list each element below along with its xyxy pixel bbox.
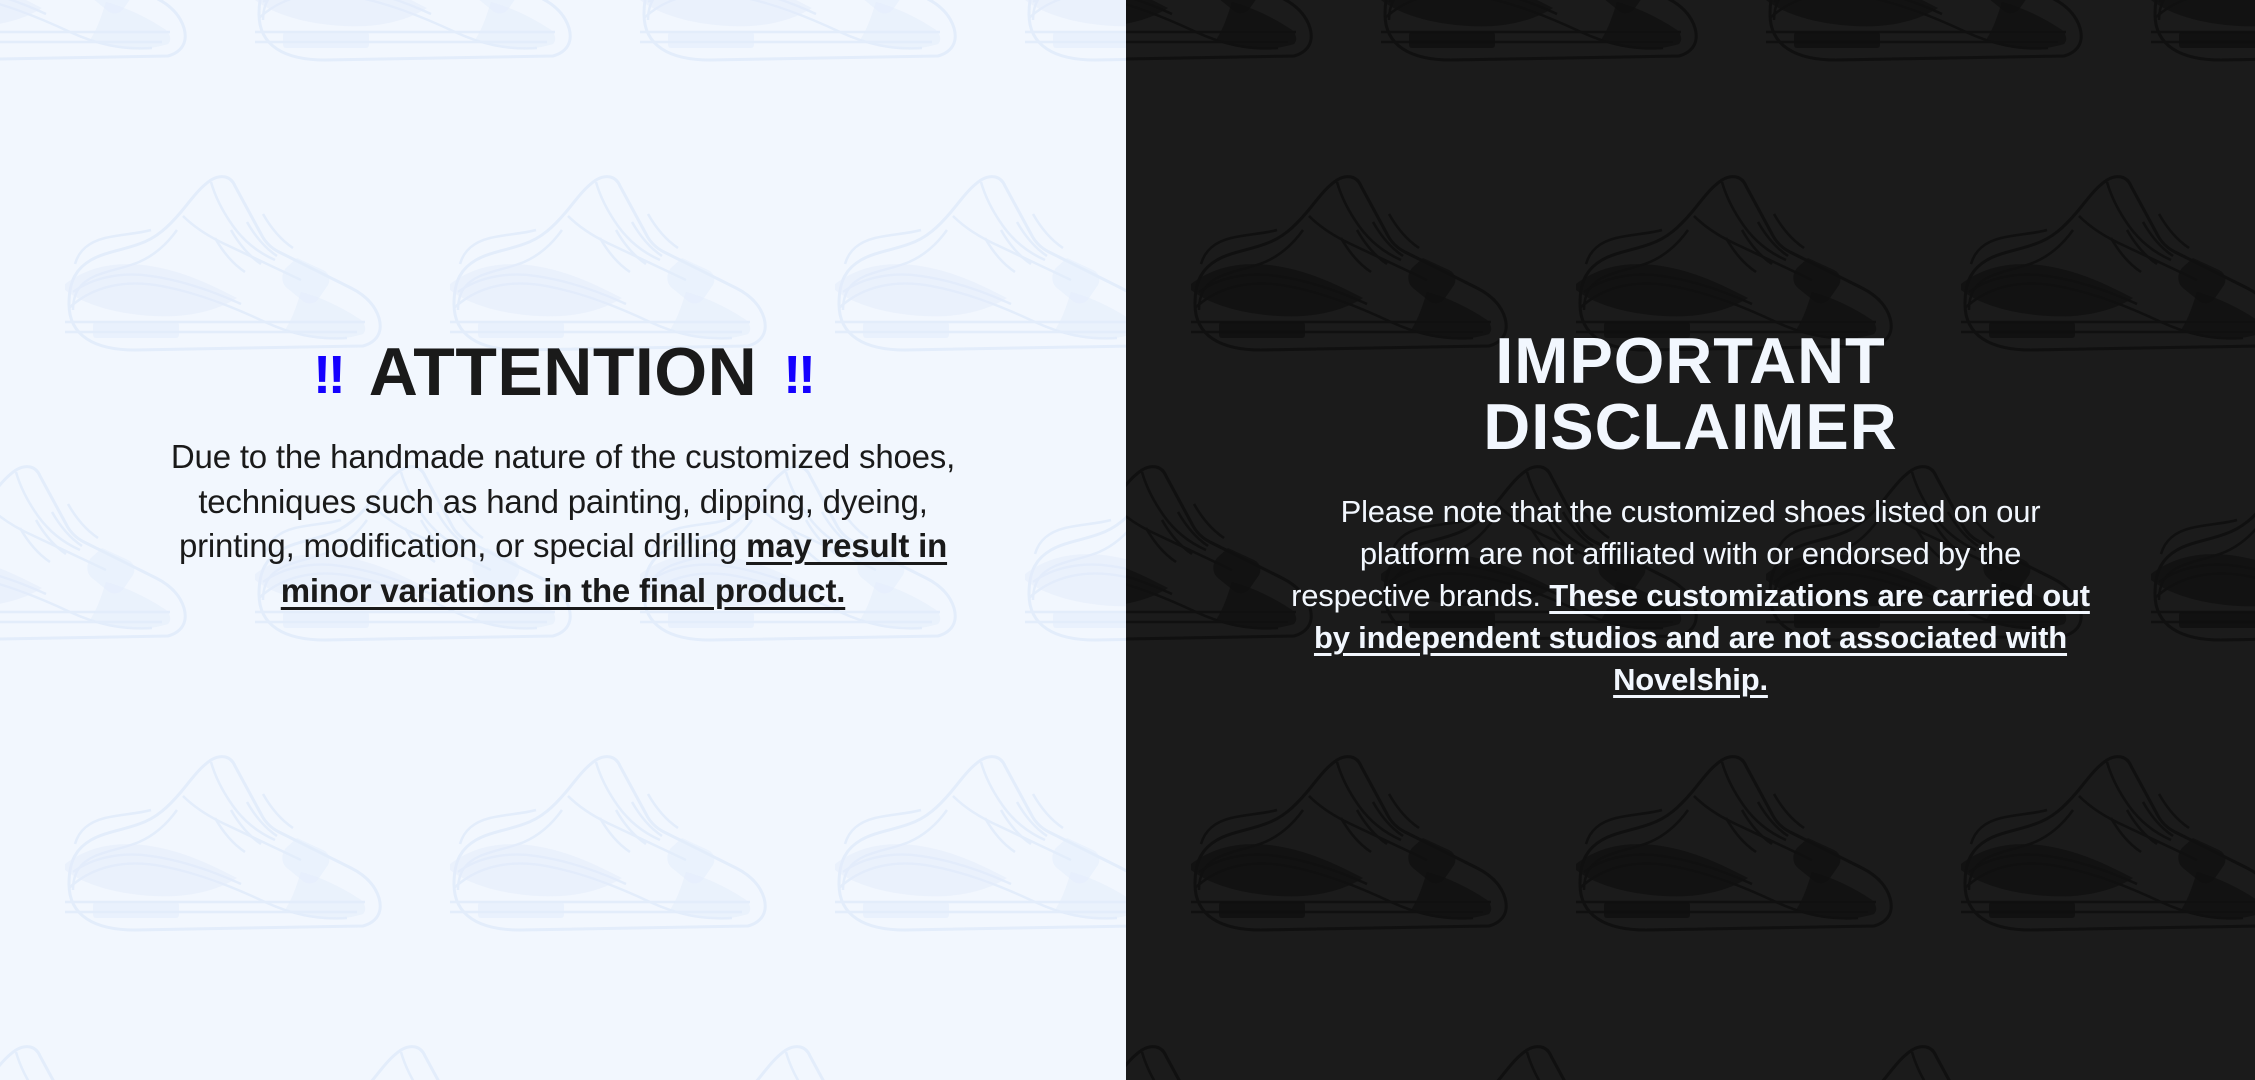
attention-body: Due to the handmade nature of the custom… [163,435,963,613]
double-exclamation-icon-right: ‼ [783,345,813,405]
disclaimer-banner: ‼ATTENTION‼ Due to the handmade nature o… [0,0,2255,1080]
page-title-attention: ‼ATTENTION‼ [0,338,1126,407]
attention-heading-text: ATTENTION [369,334,758,410]
attention-panel: ‼ATTENTION‼ Due to the handmade nature o… [0,0,1126,1080]
attention-content: ‼ATTENTION‼ Due to the handmade nature o… [0,0,1126,614]
disclaimer-heading-line-1: IMPORTANT [1495,324,1886,397]
disclaimer-heading-line-2: DISCLAIMER [1126,394,2255,460]
disclaimer-content: IMPORTANT DISCLAIMER Please note that th… [1126,0,2255,701]
disclaimer-body: Please note that the customized shoes li… [1291,491,2091,702]
disclaimer-panel: IMPORTANT DISCLAIMER Please note that th… [1126,0,2255,1080]
page-title-disclaimer: IMPORTANT DISCLAIMER [1126,328,2255,461]
double-exclamation-icon-left: ‼ [313,345,343,405]
